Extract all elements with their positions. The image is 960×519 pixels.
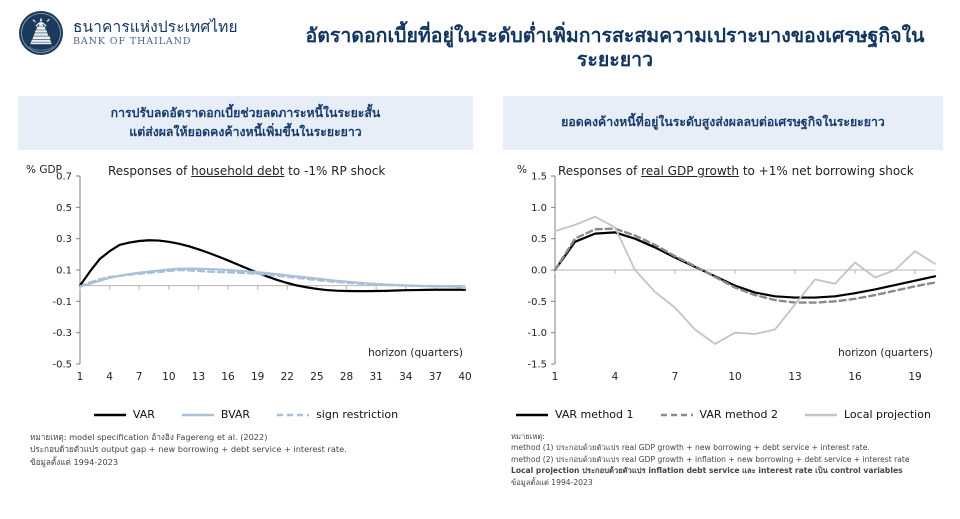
right-footnote-line: Local projection ประกอบด้วยตัวแปร inflat… [511,465,943,476]
legend-swatch-dashed [660,410,694,420]
svg-text:19: 19 [251,371,264,383]
panel-left-banner-line2: แต่ส่งผลให้ยอดคงค้างหนี้เพิ่มขึ้นในระยะย… [28,123,463,142]
svg-text:4: 4 [612,371,619,383]
svg-text:22: 22 [281,371,294,383]
legend-swatch-solid [804,410,838,420]
series-line [555,229,935,303]
right-legend-item[interactable]: VAR method 2 [660,408,778,421]
svg-text:37: 37 [429,371,442,383]
left-legend-item[interactable]: BVAR [181,408,250,421]
right-footnote-line: method (1) ประกอบด้วยตัวแปร real GDP gro… [511,442,943,453]
series-line [555,232,935,297]
legend-swatch-solid [181,410,215,420]
svg-text:1.5: 1.5 [531,172,547,183]
svg-text:16: 16 [221,371,235,383]
panel-right-banner-line1: ยอดคงค้างหนี้ที่อยู่ในระดับสูงส่งผลลบต่อ… [561,113,885,132]
org-names: ธนาคารแห่งประเทศไทย BANK OF THAILAND [73,19,238,47]
svg-text:16: 16 [848,371,862,383]
chart-household-debt: % GDP Responses of household debt to -1%… [18,166,473,406]
left-chart-footnotes: หมายเหตุ: model specification อ้างอิง Fa… [18,431,473,468]
right-chart-title-emphasis: real GDP growth [641,164,739,178]
panel-real-gdp-growth: ยอดคงค้างหนี้ที่อยู่ในระดับสูงส่งผลลบต่อ… [503,96,943,488]
svg-text:0.1: 0.1 [56,266,72,277]
svg-text:19: 19 [908,371,921,383]
legend-label: VAR method 2 [700,408,778,421]
right-footnote-line: ข้อมูลตั้งแต่ 1994-2023 [511,477,943,488]
left-chart-title-prefix: Responses of [108,164,191,178]
svg-text:40: 40 [458,371,471,383]
left-chart-y-unit: % GDP [26,164,62,176]
bank-of-thailand-seal-icon [18,10,64,56]
legend-swatch-solid [93,410,127,420]
legend-swatch-dashed [276,410,310,420]
series-line [80,240,465,291]
org-name-thai: ธนาคารแห่งประเทศไทย [73,19,238,35]
svg-text:4: 4 [106,371,113,383]
right-footnote-line: method (2) ประกอบด้วยตัวแปร real GDP gro… [511,454,943,465]
svg-text:1: 1 [77,371,84,383]
svg-text:1.0: 1.0 [531,203,547,214]
org-name-english: BANK OF THAILAND [73,37,238,47]
svg-text:10: 10 [162,371,175,383]
svg-text:13: 13 [788,371,801,383]
left-chart-plot: 0.70.50.30.1-0.1-0.3-0.51471013161922252… [18,166,473,406]
svg-text:horizon (quarters): horizon (quarters) [838,347,933,359]
svg-text:0.5: 0.5 [531,234,547,245]
slide-header: ธนาคารแห่งประเทศไทย BANK OF THAILAND อัต… [0,0,960,84]
svg-text:7: 7 [672,371,679,383]
svg-text:13: 13 [192,371,205,383]
svg-text:0.0: 0.0 [531,266,547,277]
legend-label: sign restriction [316,408,398,421]
svg-text:10: 10 [728,371,741,383]
svg-text:31: 31 [369,371,382,383]
right-chart-y-unit: % [517,164,527,176]
svg-text:-0.5: -0.5 [527,297,547,308]
panel-left-banner-line1: การปรับลดอัตราดอกเบี้ยช่วยลดภาระหนี้ในระ… [28,104,463,123]
right-footnote-line: หมายเหตุ: [511,431,943,442]
svg-text:-0.1: -0.1 [52,297,72,308]
svg-text:-1.5: -1.5 [527,360,547,371]
svg-text:7: 7 [136,371,143,383]
left-chart-title-suffix: to -1% RP shock [284,164,385,178]
right-chart-plot: 1.51.00.50.0-0.5-1.0-1.514710131619horiz… [503,166,943,406]
legend-swatch-solid [515,410,549,420]
chart-real-gdp-growth: % Responses of real GDP growth to +1% ne… [503,166,943,406]
right-chart-title-prefix: Responses of [558,164,641,178]
left-chart-legend: VARBVARsign restriction [18,408,473,421]
left-chart-title: Responses of household debt to -1% RP sh… [108,164,385,178]
left-legend-item[interactable]: VAR [93,408,155,421]
panel-household-debt: การปรับลดอัตราดอกเบี้ยช่วยลดภาระหนี้ในระ… [18,96,473,468]
right-legend-item[interactable]: VAR method 1 [515,408,633,421]
svg-text:-1.0: -1.0 [527,328,547,339]
right-legend-item[interactable]: Local projection [804,408,931,421]
left-footnote-line: ประกอบด้วยตัวแปร output gap + new borrow… [30,443,473,455]
right-chart-legend: VAR method 1VAR method 2Local projection [503,408,943,421]
svg-text:34: 34 [399,371,413,383]
series-line [555,217,935,344]
svg-text:0.5: 0.5 [56,203,72,214]
panel-right-banner: ยอดคงค้างหนี้ที่อยู่ในระดับสูงส่งผลลบต่อ… [503,96,943,150]
left-footnote-line: ข้อมูลตั้งแต่ 1994-2023 [30,456,473,468]
right-chart-footnotes: หมายเหตุ:method (1) ประกอบด้วยตัวแปร rea… [503,431,943,488]
svg-text:0.3: 0.3 [56,234,72,245]
left-chart-title-emphasis: household debt [191,164,284,178]
svg-text:1: 1 [552,371,559,383]
bank-of-thailand-logo-block: ธนาคารแห่งประเทศไทย BANK OF THAILAND [18,10,238,56]
left-legend-item[interactable]: sign restriction [276,408,398,421]
legend-label: BVAR [221,408,250,421]
legend-label: Local projection [844,408,931,421]
legend-label: VAR method 1 [555,408,633,421]
svg-text:-0.5: -0.5 [52,360,72,371]
left-footnote-line: หมายเหตุ: model specification อ้างอิง Fa… [30,431,473,443]
right-chart-title-suffix: to +1% net borrowing shock [739,164,914,178]
svg-text:28: 28 [340,371,353,383]
svg-text:25: 25 [310,371,323,383]
svg-text:-0.3: -0.3 [52,328,72,339]
panel-left-banner: การปรับลดอัตราดอกเบี้ยช่วยลดภาระหนี้ในระ… [18,96,473,150]
svg-text:horizon (quarters): horizon (quarters) [368,347,463,359]
legend-label: VAR [133,408,155,421]
page-title: อัตราดอกเบี้ยที่อยู่ในระดับต่ำเพิ่มการสะ… [285,24,945,73]
right-chart-title: Responses of real GDP growth to +1% net … [558,164,914,178]
